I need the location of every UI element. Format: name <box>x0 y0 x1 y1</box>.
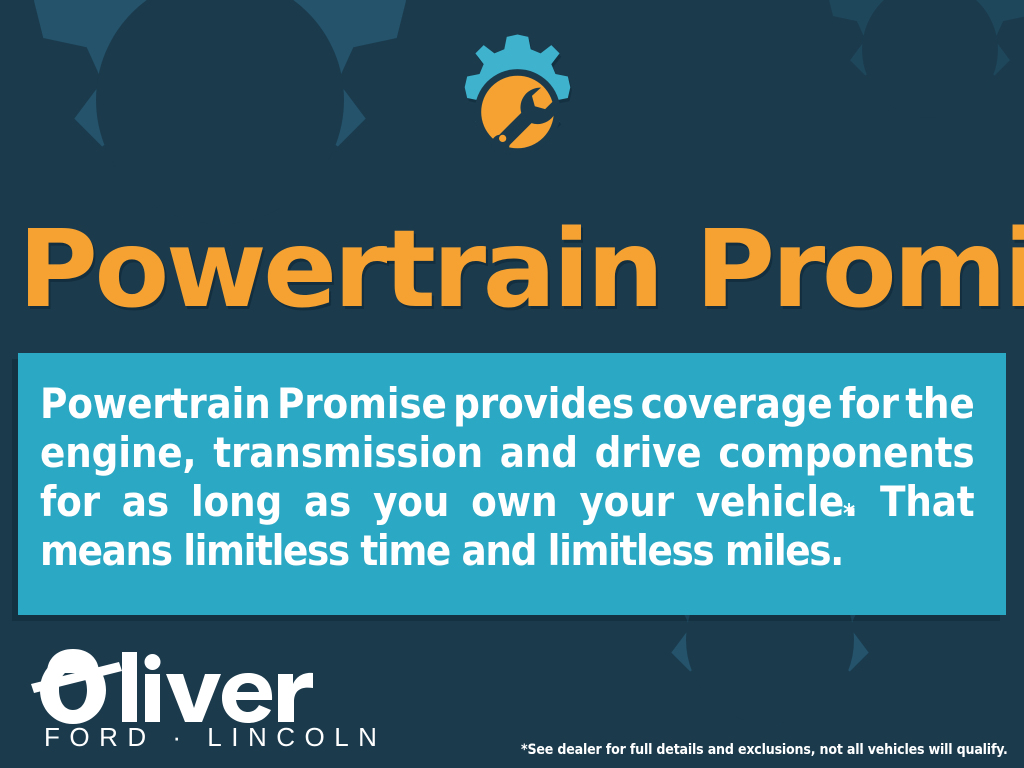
promise-word: components <box>718 428 974 477</box>
powertrain-promise-graphic: { "theme": { "background_navy": "#1B3B4D… <box>0 0 1024 768</box>
promise-word: for <box>40 477 100 526</box>
promise-word: coverage <box>641 379 833 428</box>
promise-text-line-3: for as long as you own your vehicle. Tha… <box>40 477 975 526</box>
promise-word: as <box>304 477 351 526</box>
background-gear-top-right <box>760 0 1024 220</box>
promise-word: your <box>579 477 673 526</box>
promise-text-line-4: means limitless time and limitless miles… <box>40 526 975 575</box>
dealer-logo-subtext: FORD · LINCOLN <box>26 724 326 750</box>
legal-disclaimer: *See dealer for full details and exclusi… <box>521 742 1008 758</box>
promise-last-line-text: means limitless time and limitless miles… <box>40 526 843 575</box>
gear-wrench-icon <box>435 22 600 202</box>
promise-word: transmission <box>213 428 483 477</box>
asterisk-footnote-marker: * <box>843 514 855 563</box>
promise-word: as <box>122 477 169 526</box>
promise-word: you <box>373 477 449 526</box>
dealer-logo: FORD · LINCOLN <box>26 640 326 750</box>
promise-word: and <box>500 428 578 477</box>
promise-word: engine, <box>40 428 196 477</box>
promise-word: Powertrain <box>40 379 271 428</box>
promise-word: vehicle. <box>696 477 858 526</box>
promise-text-line-2: engine, transmission and drive component… <box>40 428 975 477</box>
promise-text-line-1: Powertrain Promise provides coverage for… <box>40 379 975 428</box>
promise-word: own <box>471 477 557 526</box>
promise-word: provides <box>453 379 634 428</box>
promise-word: Promise <box>277 379 447 428</box>
promise-word: That <box>880 477 974 526</box>
promise-word: drive <box>595 428 702 477</box>
page-title: Powertrain Promise <box>18 216 1024 325</box>
promise-description-panel: Powertrain Promise provides coverage for… <box>18 353 1006 615</box>
promise-word: the <box>905 379 974 428</box>
promise-word: for <box>839 379 899 428</box>
oliver-wordmark <box>26 640 318 726</box>
promise-word: long <box>191 477 282 526</box>
